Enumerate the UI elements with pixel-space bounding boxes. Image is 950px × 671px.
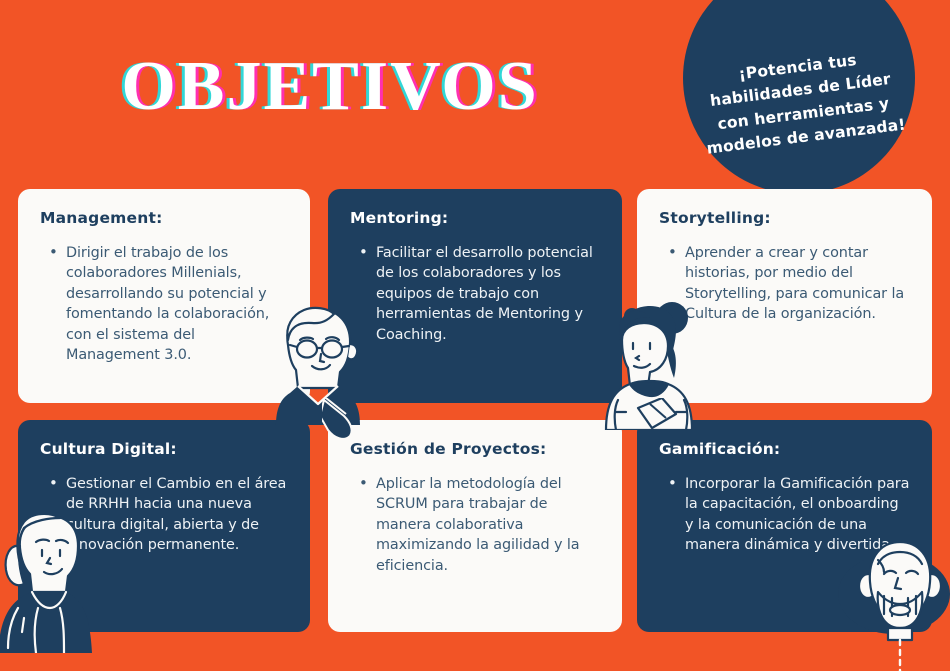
card-storytelling-bullets: Aprender a crear y contar historias, por…: [659, 243, 910, 325]
card-gestion-proyectos-heading: Gestión de Proyectos:: [350, 440, 600, 458]
list-item: Dirigir el trabajo de los colaboradores …: [66, 243, 288, 366]
card-storytelling: Storytelling: Aprender a crear y contar …: [637, 189, 932, 403]
card-storytelling-heading: Storytelling:: [659, 209, 910, 227]
card-cultura-digital-heading: Cultura Digital:: [40, 440, 288, 458]
list-item: Aprender a crear y contar historias, por…: [685, 243, 910, 325]
objectives-poster: OBJETIVOS ¡Potencia tus habilidades de L…: [0, 0, 950, 671]
card-gestion-proyectos-bullets: Aplicar la metodología del SCRUM para tr…: [350, 474, 600, 576]
list-item: Gestionar el Cambio en el área de RRHH h…: [66, 474, 288, 556]
highlight-badge-text: ¡Potencia tus habilidades de Líder con h…: [686, 0, 912, 161]
card-management-heading: Management:: [40, 209, 288, 227]
card-cultura-digital-bullets: Gestionar el Cambio en el área de RRHH h…: [40, 474, 288, 556]
card-cultura-digital: Cultura Digital: Gestionar el Cambio en …: [18, 420, 310, 632]
card-gamificacion-heading: Gamificación:: [659, 440, 910, 458]
list-item: Aplicar la metodología del SCRUM para tr…: [376, 474, 600, 576]
card-gamificacion: Gamificación: Incorporar la Gamificación…: [637, 420, 932, 632]
card-gamificacion-bullets: Incorporar la Gamificación para la capac…: [659, 474, 910, 556]
card-mentoring: Mentoring: Facilitar el desarrollo poten…: [328, 189, 622, 403]
list-item: Incorporar la Gamificación para la capac…: [685, 474, 910, 556]
card-management-bullets: Dirigir el trabajo de los colaboradores …: [40, 243, 288, 366]
card-gestion-proyectos: Gestión de Proyectos: Aplicar la metodol…: [328, 420, 622, 632]
card-mentoring-heading: Mentoring:: [350, 209, 600, 227]
list-item: Facilitar el desarrollo potencial de los…: [376, 243, 600, 345]
card-management: Management: Dirigir el trabajo de los co…: [18, 189, 310, 403]
card-mentoring-bullets: Facilitar el desarrollo potencial de los…: [350, 243, 600, 345]
highlight-badge: ¡Potencia tus habilidades de Líder con h…: [683, 0, 915, 194]
page-title: OBJETIVOS: [0, 52, 660, 122]
